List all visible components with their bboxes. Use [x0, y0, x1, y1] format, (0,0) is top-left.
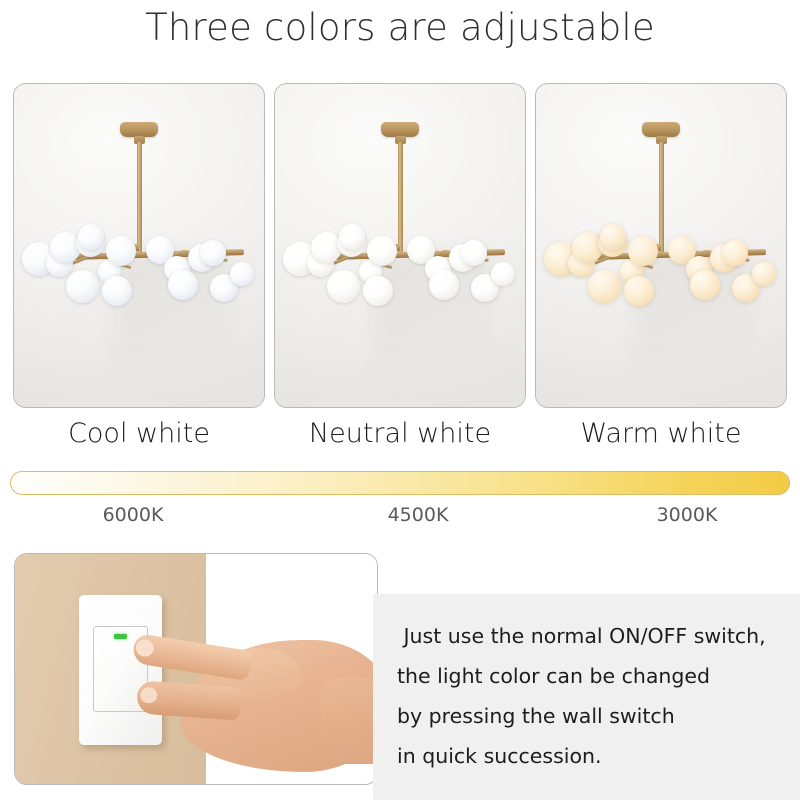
page-title: Three colors are adjustable [0, 6, 800, 49]
wrist [321, 678, 378, 764]
globe [78, 224, 104, 250]
ceiling-plate [381, 122, 419, 137]
globe [363, 276, 393, 306]
globe [491, 262, 515, 286]
description-line: the light color can be changed [397, 656, 800, 696]
hand-graphic [125, 626, 378, 785]
kelvin-tick-labels: 6000K 4500K 3000K [0, 504, 800, 530]
kelvin-label-4500k: 4500K [388, 504, 449, 526]
color-mode-captions: Cool white Neutral white Warm white [13, 418, 788, 449]
color-mode-panels [13, 83, 788, 408]
ceiling-plate [642, 122, 680, 137]
globe [327, 270, 360, 303]
globe [461, 240, 487, 266]
panel-warm-white[interactable] [535, 83, 787, 408]
globe [624, 276, 654, 306]
globe [230, 262, 254, 286]
color-temperature-bar[interactable] [10, 471, 790, 495]
globe [722, 240, 748, 266]
chandelier-cool-white [14, 84, 264, 407]
globe [339, 224, 365, 250]
drop-rod [659, 142, 664, 254]
kelvin-label-3000k: 3000K [657, 504, 718, 526]
globe [628, 236, 658, 266]
kelvin-label-6000k: 6000K [103, 504, 164, 526]
globe [690, 270, 720, 300]
caption-neutral-white: Neutral white [274, 418, 526, 449]
middle-finger [136, 680, 242, 720]
caption-cool-white: Cool white [13, 418, 265, 449]
globe [66, 270, 99, 303]
product-infographic: Three colors are adjustable [0, 0, 800, 800]
description-line: by pressing the wall switch [397, 696, 800, 736]
drop-rod [137, 142, 142, 254]
chandelier-neutral-white [275, 84, 525, 407]
chandelier-warm-white [536, 84, 786, 407]
caption-warm-white: Warm white [535, 418, 787, 449]
index-finger [131, 633, 252, 681]
globe [600, 224, 626, 250]
ceiling-plate [120, 122, 158, 137]
globe [102, 276, 132, 306]
globe [429, 270, 459, 300]
wall-switch-photo [14, 553, 378, 785]
description-line: in quick succession. [397, 736, 800, 776]
globe [367, 236, 397, 266]
globe [752, 262, 776, 286]
globe [106, 236, 136, 266]
globe [168, 270, 198, 300]
panel-neutral-white[interactable] [274, 83, 526, 408]
description-line: Just use the normal ON/OFF switch, [397, 616, 800, 656]
globe [200, 240, 226, 266]
drop-rod [398, 142, 403, 254]
globe [588, 270, 621, 303]
panel-cool-white[interactable] [13, 83, 265, 408]
switch-description-box: Just use the normal ON/OFF switch, the l… [373, 594, 800, 800]
